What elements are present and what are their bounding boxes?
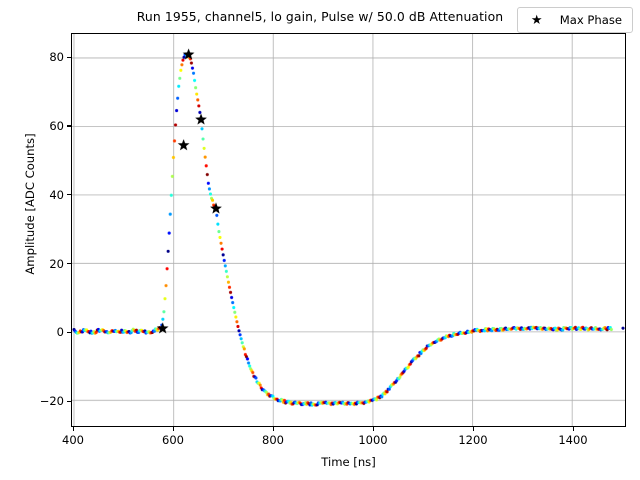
- x-tick-label: 1400: [558, 433, 587, 447]
- x-tick-mark: [173, 427, 174, 431]
- y-tick-mark: [67, 263, 71, 264]
- y-tick-mark: [67, 194, 71, 195]
- y-tick-mark: [67, 401, 71, 402]
- legend-label-max-phase: Max Phase: [560, 13, 622, 27]
- x-axis-label: Time [ns]: [71, 455, 626, 469]
- scatter-plot-canvas: [72, 34, 625, 426]
- x-tick-mark: [373, 427, 374, 431]
- x-tick-label: 600: [162, 433, 184, 447]
- y-tick-mark: [67, 125, 71, 126]
- star-icon: ★: [526, 14, 548, 27]
- x-tick-label: 1000: [358, 433, 387, 447]
- x-tick-label: 800: [262, 433, 284, 447]
- y-tick-mark: [67, 332, 71, 333]
- legend: ★ Max Phase: [517, 7, 633, 33]
- plot-axes: [71, 33, 626, 427]
- y-axis-label: Amplitude [ADC Counts]: [23, 7, 37, 401]
- x-tick-mark: [473, 427, 474, 431]
- x-tick-label: 1200: [458, 433, 487, 447]
- x-tick-label: 400: [62, 433, 84, 447]
- x-tick-mark: [273, 427, 274, 431]
- figure-canvas: Run 1955, channel5, lo gain, Pulse w/ 50…: [0, 0, 640, 480]
- y-tick-mark: [67, 57, 71, 58]
- x-tick-mark: [573, 427, 574, 431]
- x-tick-mark: [73, 427, 74, 431]
